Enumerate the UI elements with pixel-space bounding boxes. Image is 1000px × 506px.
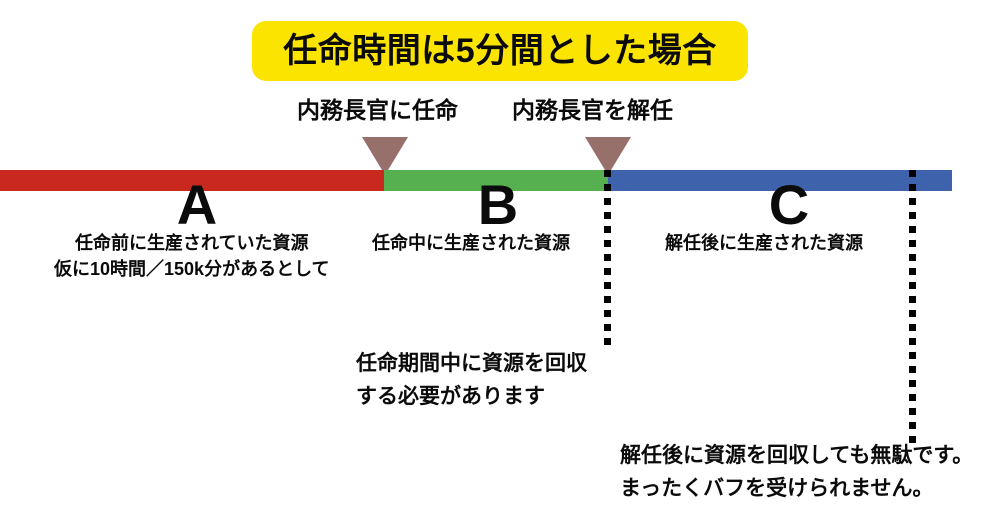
segment-letter-a: A	[177, 177, 217, 233]
segment-caption-b: 任命中に生産された資源	[372, 230, 570, 256]
annotation-after-dismissal: 解任後に資源を回収しても無駄です。 まったくバフを受けられません。	[620, 440, 973, 505]
annotation-during-appointment-line2: する必要があります	[356, 381, 587, 414]
event-label-appoint: 内務長官に任命	[297, 99, 458, 122]
annotation-after-dismissal-line2: まったくバフを受けられません。	[620, 473, 973, 506]
guide-line-b-boundary	[604, 170, 611, 352]
segment-letter-c: C	[769, 177, 809, 233]
annotation-after-dismissal-line1: 解任後に資源を回収しても無駄です。	[620, 440, 973, 473]
segment-caption-c-line1: 解任後に生産された資源	[665, 230, 863, 256]
segment-letter-b: B	[478, 177, 518, 233]
event-label-dismiss: 内務長官を解任	[512, 99, 673, 122]
title-banner: 任命時間は5分間とした場合	[252, 21, 748, 81]
guide-line-c-end	[909, 170, 916, 446]
title-text: 任命時間は5分間とした場合	[283, 34, 716, 68]
annotation-during-appointment: 任命期間中に資源を回収 する必要があります	[356, 348, 587, 413]
diagram-canvas: 任命時間は5分間とした場合 内務長官に任命 内務長官を解任 A B C 任命前に…	[0, 0, 1000, 506]
segment-caption-a-line2: 仮に10時間／150k分があるとして	[54, 256, 330, 282]
segment-caption-a-line1: 任命前に生産されていた資源	[54, 230, 330, 256]
annotation-during-appointment-line1: 任命期間中に資源を回収	[356, 348, 587, 381]
segment-caption-b-line1: 任命中に生産された資源	[372, 230, 570, 256]
segment-caption-c: 解任後に生産された資源	[665, 230, 863, 256]
segment-caption-a: 任命前に生産されていた資源 仮に10時間／150k分があるとして	[54, 230, 330, 282]
